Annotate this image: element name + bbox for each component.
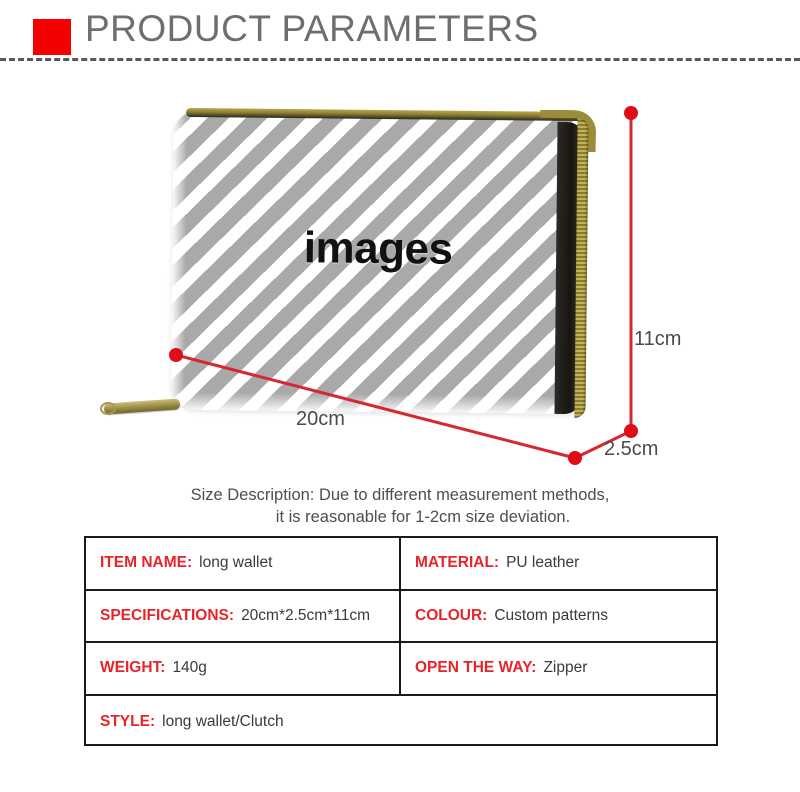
dimension-endpoint-dot <box>169 348 183 362</box>
dimension-line-width <box>176 355 575 458</box>
table-cell-specifications: SPECIFICATIONS: 20cm*2.5cm*11cm <box>86 591 401 642</box>
spec-key: WEIGHT: <box>100 659 165 677</box>
specification-table: ITEM NAME: long wallet MATERIAL: PU leat… <box>84 536 718 746</box>
size-description: Size Description: Due to different measu… <box>0 484 800 528</box>
spec-key: MATERIAL: <box>415 554 499 572</box>
table-cell-weight: WEIGHT: 140g <box>86 643 401 694</box>
table-row: SPECIFICATIONS: 20cm*2.5cm*11cm COLOUR: … <box>86 591 716 644</box>
table-row: ITEM NAME: long wallet MATERIAL: PU leat… <box>86 538 716 591</box>
table-cell-colour: COLOUR: Custom patterns <box>401 591 716 642</box>
red-square-marker-icon <box>33 19 71 55</box>
table-cell-item-name: ITEM NAME: long wallet <box>86 538 401 589</box>
spec-value: 20cm*2.5cm*11cm <box>241 607 370 625</box>
spec-value: Custom patterns <box>494 607 608 625</box>
spec-key: STYLE: <box>100 713 155 731</box>
dimension-overlay <box>0 70 800 480</box>
table-cell-open-the-way: OPEN THE WAY: Zipper <box>401 643 716 694</box>
spec-key: SPECIFICATIONS: <box>100 607 234 625</box>
spec-value: long wallet <box>199 554 272 572</box>
table-row: STYLE: long wallet/Clutch <box>86 696 716 749</box>
page-title: PRODUCT PARAMETERS <box>85 8 539 50</box>
dimension-label-depth: 2.5cm <box>604 438 658 461</box>
dimension-endpoint-dot <box>624 106 638 120</box>
dimension-endpoint-dot <box>568 451 582 465</box>
page-header: PRODUCT PARAMETERS <box>0 0 800 62</box>
spec-value: 140g <box>172 659 206 677</box>
size-description-line-2: it is reasonable for 1-2cm size deviatio… <box>0 506 800 528</box>
spec-key: COLOUR: <box>415 607 487 625</box>
spec-value: Zipper <box>543 659 587 677</box>
spec-value: long wallet/Clutch <box>162 713 283 731</box>
product-photo-area: images 20cm 11cm 2.5cm <box>0 70 800 480</box>
table-row: WEIGHT: 140g OPEN THE WAY: Zipper <box>86 643 716 696</box>
dimension-endpoint-dot <box>624 424 638 438</box>
spec-key: ITEM NAME: <box>100 554 192 572</box>
table-cell-material: MATERIAL: PU leather <box>401 538 716 589</box>
spec-value: PU leather <box>506 554 579 572</box>
spec-key: OPEN THE WAY: <box>415 659 536 677</box>
header-dashed-divider <box>0 58 800 61</box>
size-description-line-1: Size Description: Due to different measu… <box>0 484 800 506</box>
dimension-label-width: 20cm <box>296 408 345 431</box>
table-cell-style: STYLE: long wallet/Clutch <box>86 696 716 749</box>
dimension-label-height: 11cm <box>634 328 681 351</box>
